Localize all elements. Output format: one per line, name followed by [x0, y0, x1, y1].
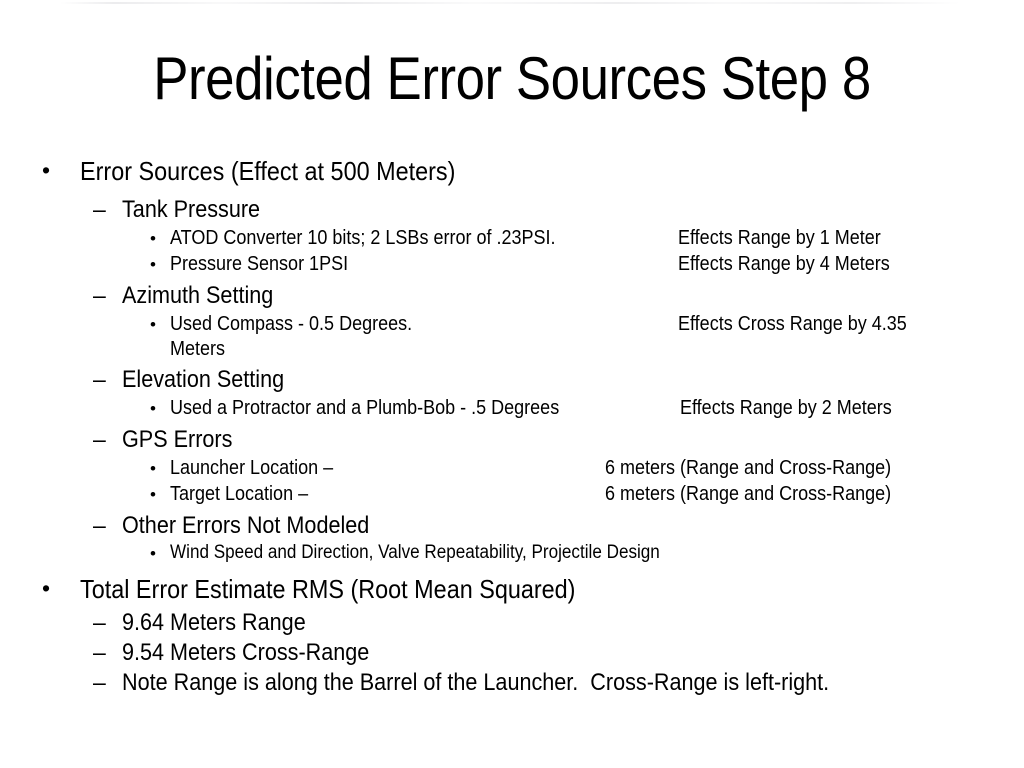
bullet-pressure-sensor: • Pressure Sensor 1PSI Effects Range by …	[0, 253, 1024, 282]
bullet-text: Tank Pressure	[122, 196, 260, 224]
bullet-text: Other Errors Not Modeled	[122, 512, 369, 540]
effect-annotation: Effects Cross Range by 4.35	[678, 313, 907, 336]
scan-artifact-edge	[60, 2, 960, 4]
bullet-gps-errors: – GPS Errors	[0, 426, 1024, 457]
bullet-text: Used Compass - 0.5 Degrees.	[170, 313, 412, 336]
bullet-used-compass: • Used Compass - 0.5 Degrees. Effects Cr…	[0, 313, 1024, 338]
bullet-text: Azimuth Setting	[122, 282, 273, 310]
bullet-used-compass-wrap: Meters	[0, 338, 1024, 366]
bullet-marker-icon: •	[150, 485, 156, 505]
bullet-marker-icon: •	[42, 157, 50, 184]
bullet-note-range: – Note Range is along the Barrel of the …	[0, 669, 1024, 699]
effect-annotation: Effects Range by 4 Meters	[678, 253, 890, 276]
dash-marker-icon: –	[93, 512, 106, 539]
dash-marker-icon: –	[93, 669, 106, 696]
bullet-marker-icon: •	[150, 399, 156, 419]
bullet-wind-speed: • Wind Speed and Direction, Valve Repeat…	[0, 542, 1024, 574]
bullet-text: Wind Speed and Direction, Valve Repeatab…	[170, 542, 660, 564]
bullet-text: Target Location –	[170, 483, 308, 506]
dash-marker-icon: –	[93, 609, 106, 636]
bullet-cross-range-rms: – 9.54 Meters Cross-Range	[0, 639, 1024, 669]
bullet-text: GPS Errors	[122, 426, 232, 454]
effect-annotation: 6 meters (Range and Cross-Range)	[605, 457, 891, 480]
dash-marker-icon: –	[93, 282, 106, 309]
bullet-text: Note Range is along the Barrel of the La…	[122, 669, 829, 697]
bullet-text: 9.54 Meters Cross-Range	[122, 639, 369, 667]
dash-marker-icon: –	[93, 196, 106, 223]
bullet-atod-converter: • ATOD Converter 10 bits; 2 LSBs error o…	[0, 227, 1024, 253]
bullet-text-continuation: Meters	[170, 338, 225, 361]
bullet-protractor: • Used a Protractor and a Plumb-Bob - .5…	[0, 397, 1024, 426]
bullet-total-error-estimate: • Total Error Estimate RMS (Root Mean Sq…	[0, 574, 1024, 609]
bullet-text: Pressure Sensor 1PSI	[170, 253, 348, 276]
bullet-text: Total Error Estimate RMS (Root Mean Squa…	[80, 574, 575, 605]
bullet-azimuth-setting: – Azimuth Setting	[0, 282, 1024, 313]
bullet-marker-icon: •	[150, 255, 156, 275]
bullet-marker-icon: •	[42, 575, 50, 602]
bullet-text: Launcher Location –	[170, 457, 333, 480]
dash-marker-icon: –	[93, 366, 106, 393]
bullet-text: ATOD Converter 10 bits; 2 LSBs error of …	[170, 227, 556, 250]
bullet-text: Elevation Setting	[122, 366, 284, 394]
bullet-elevation-setting: – Elevation Setting	[0, 366, 1024, 397]
dash-marker-icon: –	[93, 639, 106, 666]
bullet-marker-icon: •	[150, 544, 156, 564]
slide-title: Predicted Error Sources Step 8	[61, 44, 962, 114]
effect-annotation: 6 meters (Range and Cross-Range)	[605, 483, 891, 506]
bullet-text: Used a Protractor and a Plumb-Bob - .5 D…	[170, 397, 559, 420]
effect-annotation: Effects Range by 1 Meter	[678, 227, 881, 250]
bullet-text: Error Sources (Effect at 500 Meters)	[80, 156, 455, 187]
bullet-text: 9.64 Meters Range	[122, 609, 306, 637]
bullet-error-sources: • Error Sources (Effect at 500 Meters)	[0, 156, 1024, 196]
bullet-marker-icon: •	[150, 315, 156, 335]
bullet-tank-pressure: – Tank Pressure	[0, 196, 1024, 227]
bullet-target-location: • Target Location – 6 meters (Range and …	[0, 483, 1024, 512]
effect-annotation: Effects Range by 2 Meters	[680, 397, 892, 420]
slide-body: • Error Sources (Effect at 500 Meters) –…	[0, 156, 1024, 699]
bullet-marker-icon: •	[150, 229, 156, 249]
slide: Predicted Error Sources Step 8 • Error S…	[0, 0, 1024, 768]
bullet-launcher-location: • Launcher Location – 6 meters (Range an…	[0, 457, 1024, 483]
bullet-range-rms: – 9.64 Meters Range	[0, 609, 1024, 639]
bullet-other-errors: – Other Errors Not Modeled	[0, 512, 1024, 542]
bullet-marker-icon: •	[150, 459, 156, 479]
dash-marker-icon: –	[93, 426, 106, 453]
